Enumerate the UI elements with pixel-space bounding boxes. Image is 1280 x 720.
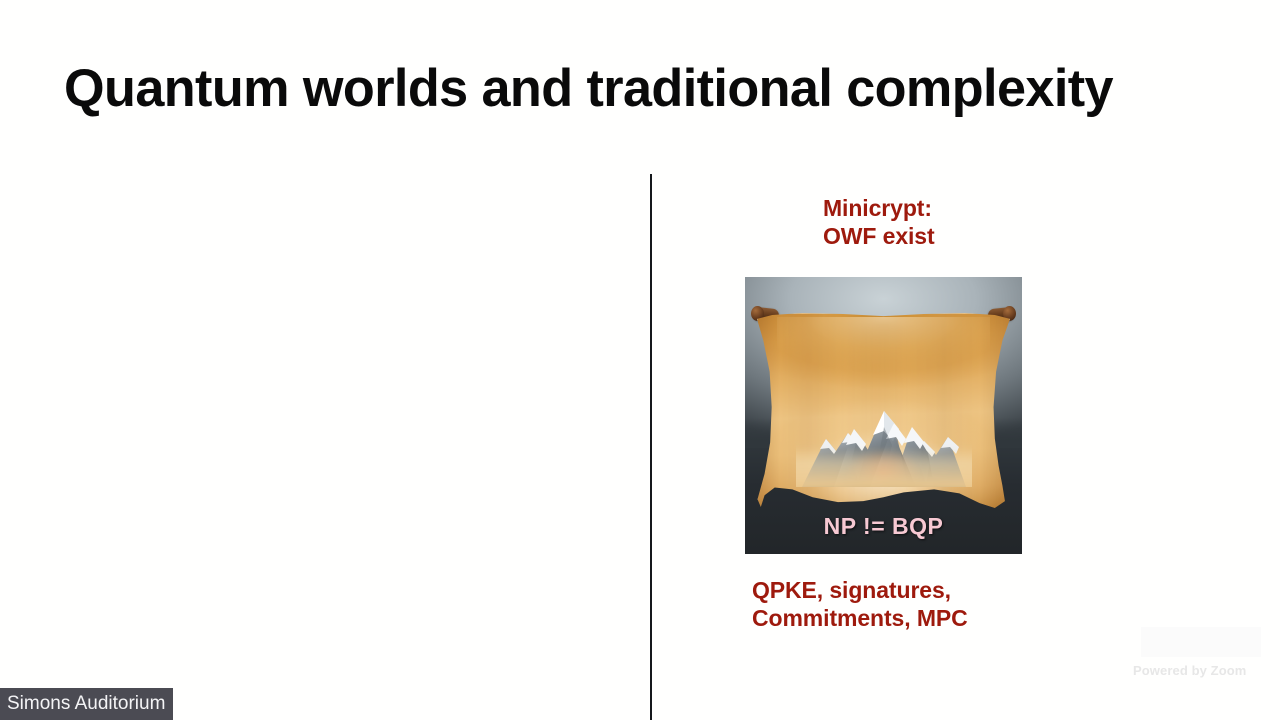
figure-caption: NP != BQP — [745, 513, 1022, 540]
speaker-name-label: Simons Auditorium — [7, 688, 165, 720]
speaker-name-bar: Simons Auditorium — [0, 688, 173, 720]
zoom-watermark-label: Powered by Zoom — [1133, 663, 1246, 678]
vertical-divider — [650, 174, 652, 720]
mountain-mist — [796, 447, 972, 487]
zoom-watermark-backdrop — [1141, 627, 1261, 657]
slide-title: Quantum worlds and traditional complexit… — [64, 58, 1113, 120]
mountain-range-icon — [796, 409, 972, 487]
minicrypt-label: Minicrypt: OWF exist — [823, 194, 935, 250]
crypto-primitives-label: QPKE, signatures, Commitments, MPC — [752, 576, 968, 632]
golden-cloth-banner — [757, 313, 1010, 509]
banner-mountains-figure: NP != BQP — [745, 277, 1022, 554]
